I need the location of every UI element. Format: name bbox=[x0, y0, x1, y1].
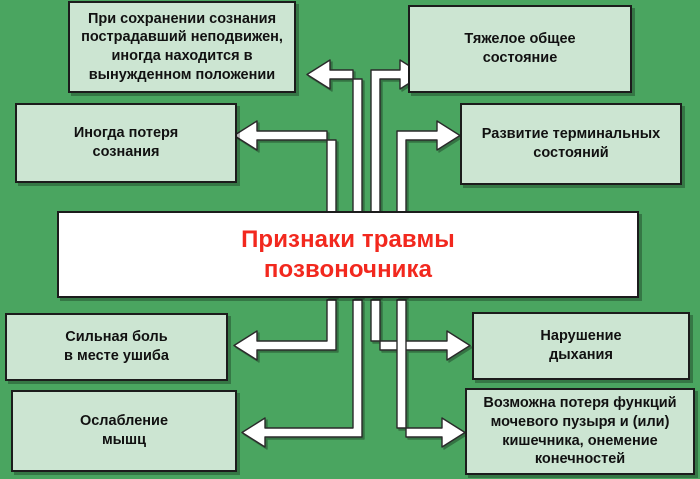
node-severe-pain-at-bruise-label: Сильная боль в месте ушиба bbox=[64, 328, 169, 365]
connector-to-severe-pain-at-bruise bbox=[234, 300, 336, 360]
connector-to-muscle-weakness bbox=[242, 300, 362, 447]
node-breathing-disorder-label: Нарушение дыхания bbox=[540, 327, 621, 364]
node-severe-pain-at-bruise[interactable]: Сильная боль в месте ушиба bbox=[5, 313, 228, 381]
node-severe-general-condition-label: Тяжелое общее состояние bbox=[464, 30, 575, 67]
node-consciousness-preserved-label: При сохранении сознания пострадавший неп… bbox=[81, 10, 283, 84]
node-sometimes-loss-of-consciousness[interactable]: Иногда потеря сознания bbox=[15, 103, 237, 183]
node-terminal-states-development[interactable]: Развитие терминальных состояний bbox=[460, 103, 682, 185]
node-sometimes-loss-of-consciousness-label: Иногда потеря сознания bbox=[74, 124, 178, 161]
node-breathing-disorder[interactable]: Нарушение дыхания bbox=[472, 312, 690, 380]
connector-to-breathing-disorder bbox=[371, 300, 470, 360]
node-muscle-weakness[interactable]: Ослабление мышц bbox=[11, 390, 237, 472]
connector-to-bladder-bowel-loss bbox=[397, 300, 465, 447]
node-terminal-states-development-label: Развитие терминальных состояний bbox=[482, 125, 661, 162]
node-center-spine-injury-signs[interactable]: Признаки травмы позвоночника bbox=[57, 211, 639, 298]
node-bladder-bowel-loss-label: Возможна потеря функций мочевого пузыря … bbox=[483, 394, 676, 468]
diagram-canvas: При сохранении сознания пострадавший неп… bbox=[0, 0, 700, 479]
page-title: Признаки травмы позвоночника bbox=[241, 225, 455, 284]
node-consciousness-preserved[interactable]: При сохранении сознания пострадавший неп… bbox=[68, 1, 296, 93]
node-bladder-bowel-loss[interactable]: Возможна потеря функций мочевого пузыря … bbox=[465, 388, 695, 475]
node-severe-general-condition[interactable]: Тяжелое общее состояние bbox=[408, 5, 632, 93]
node-muscle-weakness-label: Ослабление мышц bbox=[80, 412, 168, 449]
